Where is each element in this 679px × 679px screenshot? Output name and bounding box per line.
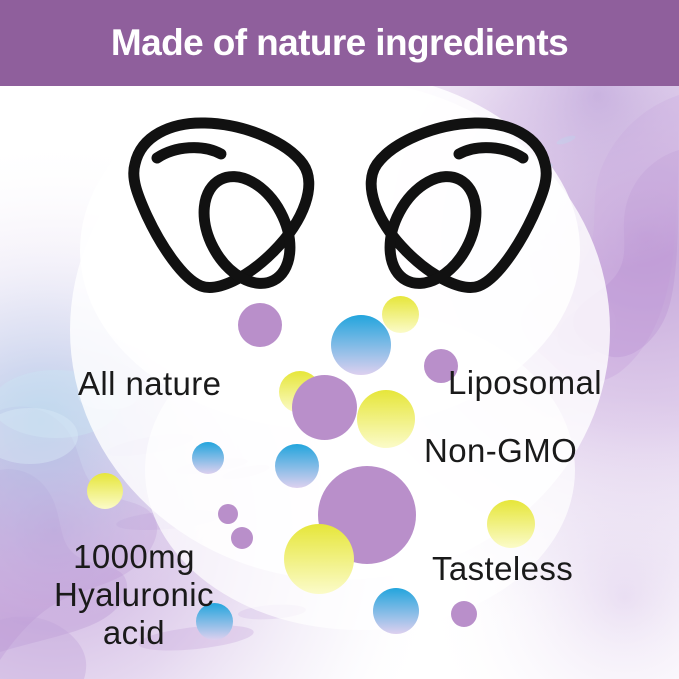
dose-ingredient: Hyaluronic — [18, 576, 250, 614]
left-scoop-opening — [187, 162, 308, 297]
bubble-yellow-6 — [87, 473, 123, 509]
left-scoop-rim-highlight — [157, 148, 221, 158]
bubble-yellow-3 — [357, 390, 415, 448]
bubble-yellow-5 — [487, 500, 535, 548]
bubble-purple-1 — [238, 303, 282, 347]
bubble-purple-6 — [451, 601, 477, 627]
header-banner: Made of nature ingredients — [0, 0, 679, 86]
feature-label-all-nature: All nature — [78, 365, 221, 403]
feature-label-tasteless: Tasteless — [432, 550, 573, 588]
bubble-blue-3 — [275, 444, 319, 488]
feature-label-dose: 1000mg Hyaluronic acid — [18, 538, 250, 652]
bubble-purple-3 — [292, 375, 357, 440]
feature-label-non-gmo: Non-GMO — [424, 432, 577, 470]
dose-amount: 1000mg — [18, 538, 250, 576]
product-infographic: Made of nature ingredients All nature Li… — [0, 0, 679, 679]
bubble-yellow-4 — [284, 524, 354, 594]
bubble-yellow-1 — [382, 296, 419, 333]
bubble-blue-2 — [192, 442, 224, 474]
bubble-purple-4 — [218, 504, 238, 524]
page-title: Made of nature ingredients — [111, 22, 568, 64]
bubble-blue-4 — [373, 588, 419, 634]
dose-ingredient-cont: acid — [18, 614, 250, 652]
feature-label-liposomal: Liposomal — [448, 364, 602, 402]
right-scoop-opening — [373, 162, 494, 297]
right-scoop-rim-highlight — [459, 148, 523, 158]
bubble-blue-1 — [331, 315, 391, 375]
scoops-illustration — [105, 112, 575, 297]
